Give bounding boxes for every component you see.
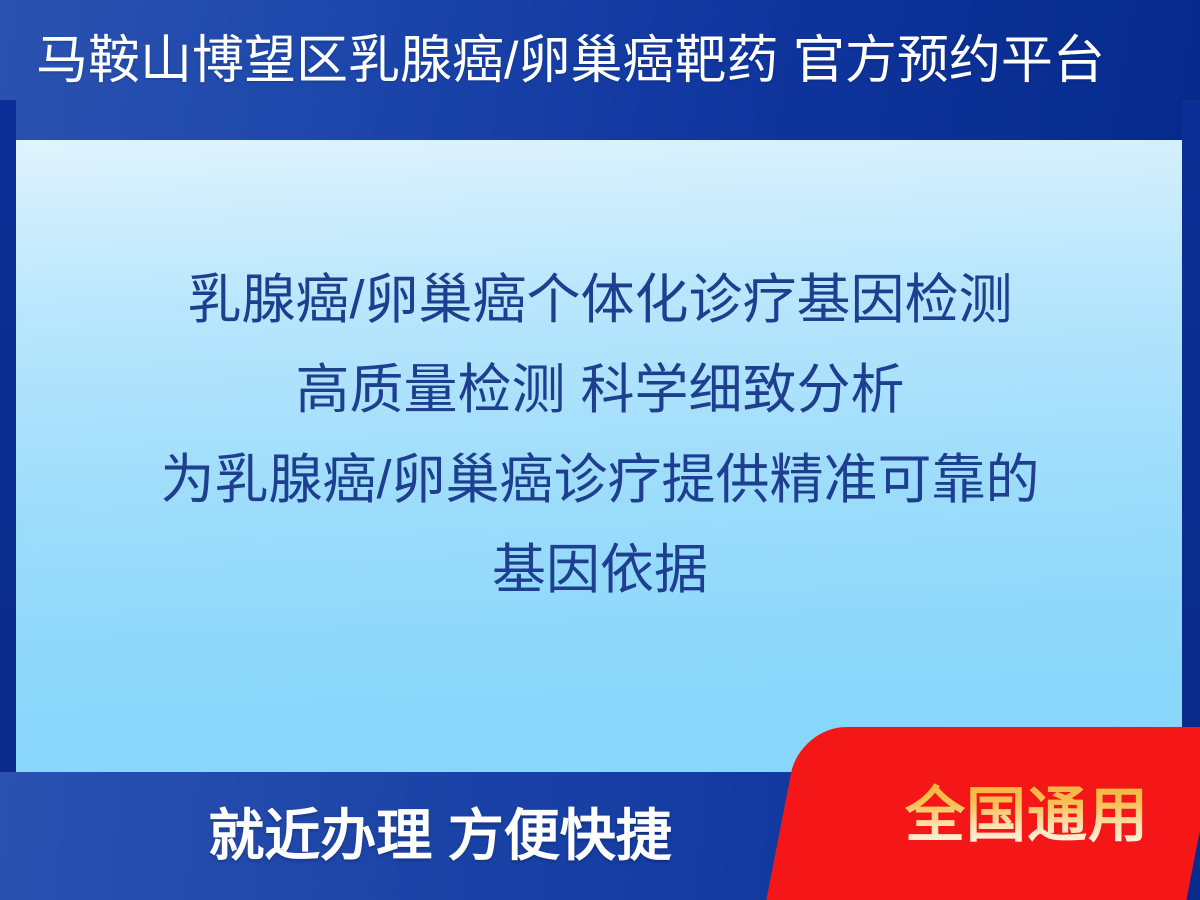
footer-slogan: 就近办理 方便快捷 xyxy=(70,788,810,884)
promo-banner: 马鞍山博望区乳腺癌/卵巢癌靶药 官方预约平台 乳腺癌/卵巢癌个体化诊疗基因检测 … xyxy=(0,0,1200,900)
main-copy-line-3: 为乳腺癌/卵巢癌诊疗提供精准可靠的 xyxy=(60,435,1140,525)
main-copy-line-2: 高质量检测 科学细致分析 xyxy=(60,345,1140,435)
left-rail xyxy=(0,100,16,800)
main-copy-line-4: 基因依据 xyxy=(60,525,1140,615)
header-title: 马鞍山博望区乳腺癌/卵巢癌靶药 官方预约平台 xyxy=(36,26,1176,96)
main-copy: 乳腺癌/卵巢癌个体化诊疗基因检测 高质量检测 科学细致分析 为乳腺癌/卵巢癌诊疗… xyxy=(60,255,1140,615)
right-rail xyxy=(1182,100,1200,800)
nationwide-badge-label: 全国通用 xyxy=(862,781,1192,851)
main-copy-line-1: 乳腺癌/卵巢癌个体化诊疗基因检测 xyxy=(60,255,1140,345)
